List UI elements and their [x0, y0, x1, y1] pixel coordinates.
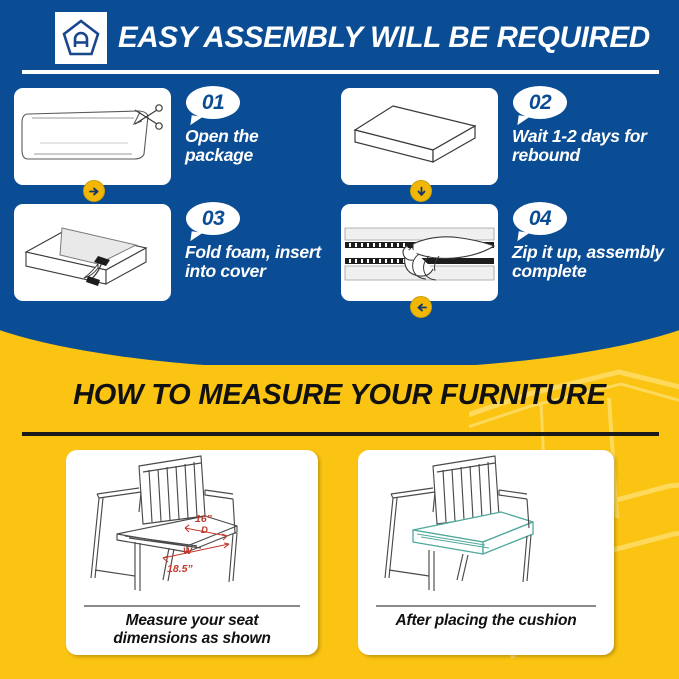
arrow-left-icon: [410, 296, 432, 318]
step-03-number: 03: [202, 207, 224, 231]
foam-folded-into-cover-illustration: [14, 204, 171, 301]
step-01-number-bubble: 01: [186, 86, 240, 119]
chair-with-seat-cushion-illustration: [358, 450, 614, 598]
step-04-number: 04: [529, 207, 551, 231]
svg-text:16”: 16”: [195, 513, 213, 525]
measure-panel-cushion-caption: After placing the cushion: [364, 612, 608, 630]
svg-text:W: W: [183, 546, 193, 557]
header-divider: [22, 70, 659, 74]
step-01-label: Open thepackage: [185, 127, 344, 165]
infographic-root: EASY ASSEMBLY WILL BE REQUIRED: [0, 0, 679, 679]
svg-text:18.5”: 18.5”: [167, 563, 193, 575]
step-01-number: 01: [202, 91, 224, 115]
hand-closing-zipper-illustration: [341, 204, 498, 301]
step-04-label: Zip it up, assemblycomplete: [512, 243, 671, 281]
panel-divider: [376, 605, 596, 607]
measure-section-divider: [22, 432, 659, 436]
step-03-label: Fold foam, insertinto cover: [185, 243, 344, 281]
arrow-down-icon: [410, 180, 432, 202]
chair-with-dimension-callouts-illustration: 16” D W 18.5”: [66, 450, 318, 598]
step-item-04: 04 Zip it up, assemblycomplete: [341, 200, 671, 313]
step-02-label: Wait 1-2 days forrebound: [512, 127, 671, 165]
measure-panel-dimensions-caption: Measure your seatdimensions as shown: [72, 612, 312, 647]
step-01-text: 01 Open thepackage: [184, 84, 344, 189]
measure-panel-dimensions[interactable]: 16” D W 18.5” Measure your seatdimension…: [66, 450, 318, 655]
flat-foam-slab-illustration: [341, 88, 498, 185]
step-02-number-bubble: 02: [513, 86, 567, 119]
header: EASY ASSEMBLY WILL BE REQUIRED: [0, 0, 679, 80]
step-04-text: 04 Zip it up, assemblycomplete: [511, 200, 671, 305]
step-03-text: 03 Fold foam, insertinto cover: [184, 200, 344, 305]
step-02-text: 02 Wait 1-2 days forrebound: [511, 84, 671, 189]
step-03-illustration-card: [14, 204, 171, 301]
page-title: EASY ASSEMBLY WILL BE REQUIRED: [118, 12, 663, 64]
step-03-number-bubble: 03: [186, 202, 240, 235]
step-item-03: 03 Fold foam, insertinto cover: [14, 200, 344, 313]
step-01-illustration-card: [14, 88, 171, 185]
vacuum-sealed-package-illustration: [14, 88, 171, 185]
step-02-number: 02: [529, 91, 551, 115]
measure-panel-cushion[interactable]: After placing the cushion: [358, 450, 614, 655]
assembly-steps: 01 Open thepackage: [0, 84, 679, 314]
step-item-01: 01 Open thepackage: [14, 84, 344, 197]
panel-divider: [84, 605, 300, 607]
step-04-number-bubble: 04: [513, 202, 567, 235]
measure-section-title: HOW TO MEASURE YOUR FURNITURE: [0, 379, 679, 412]
arrow-right-icon: [83, 180, 105, 202]
step-02-illustration-card: [341, 88, 498, 185]
step-04-illustration-card: [341, 204, 498, 301]
house-pentagon-icon: [55, 12, 107, 64]
step-item-02: 02 Wait 1-2 days forrebound: [341, 84, 671, 197]
svg-text:D: D: [201, 525, 208, 536]
